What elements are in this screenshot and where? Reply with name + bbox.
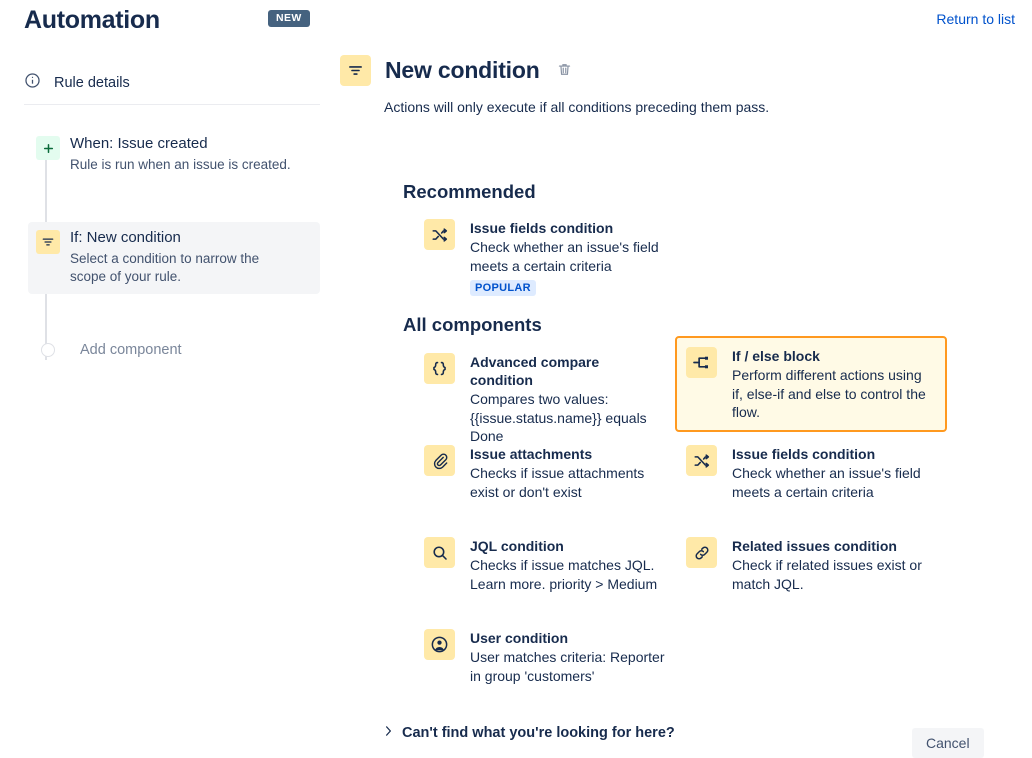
cancel-button[interactable]: Cancel <box>912 728 984 758</box>
component-card-text: Advanced compare condition Compares two … <box>470 352 666 446</box>
component-card-title: If / else block <box>732 347 935 365</box>
info-icon <box>24 72 41 94</box>
shuffle-icon <box>686 445 717 476</box>
component-card-text: Issue fields condition Check whether an … <box>732 444 928 501</box>
component-card-text: Issue fields condition Check whether an … <box>470 218 666 296</box>
component-card-desc: Check whether an issue's field meets a c… <box>732 464 928 501</box>
condition-title: New condition <box>385 57 540 84</box>
component-card-text: If / else block Perform different action… <box>732 346 935 422</box>
cant-find-expander[interactable]: Can't find what you're looking for here? <box>384 724 675 742</box>
rule-sidebar: Rule details When: Issue created Rule is… <box>0 46 330 758</box>
rule-step-desc: Select a condition to narrow the scope o… <box>70 250 298 286</box>
section-title-recommended: Recommended <box>403 181 536 203</box>
component-card-title: JQL condition <box>470 537 666 555</box>
rule-step-desc: Rule is run when an issue is created. <box>70 156 298 174</box>
rule-step-if-new-condition[interactable]: If: New condition Select a condition to … <box>28 222 320 294</box>
rule-step-title: If: New condition <box>70 228 298 248</box>
popular-badge: POPULAR <box>470 280 536 296</box>
branch-icon <box>686 347 717 378</box>
condition-picker-panel: New condition Actions will only execute … <box>337 46 1032 758</box>
component-card-desc: User matches criteria: Reporter in group… <box>470 648 666 685</box>
component-card-title: Advanced compare condition <box>470 353 666 389</box>
section-title-all-components: All components <box>403 314 542 336</box>
chevron-right-icon <box>384 724 393 742</box>
new-badge: NEW <box>268 10 310 27</box>
braces-icon <box>424 353 455 384</box>
add-component-button[interactable]: Add component <box>28 336 320 366</box>
top-bar: Automation NEW Return to list <box>0 0 1032 46</box>
trash-icon[interactable] <box>557 62 572 82</box>
add-component-circle-icon <box>41 343 55 357</box>
component-card-desc: Check whether an issue's field meets a c… <box>470 238 666 275</box>
sidebar-divider <box>24 104 320 105</box>
sidebar-item-label: Rule details <box>54 75 130 91</box>
component-card-if-else-block[interactable]: If / else block Perform different action… <box>675 336 947 432</box>
condition-subtitle: Actions will only execute if all conditi… <box>384 99 769 115</box>
component-card-title: Issue attachments <box>470 445 666 463</box>
component-card-desc: Checks if issue attachments exist or don… <box>470 464 666 501</box>
cant-find-expander-label: Can't find what you're looking for here? <box>402 725 675 741</box>
return-to-list-link[interactable]: Return to list <box>936 11 1015 27</box>
filter-icon <box>36 230 60 254</box>
component-card-text: JQL condition Checks if issue matches JQ… <box>470 536 666 593</box>
user-icon <box>424 629 455 660</box>
rule-step-when-issue-created[interactable]: When: Issue created Rule is run when an … <box>28 128 320 182</box>
link-icon <box>686 537 717 568</box>
search-icon <box>424 537 455 568</box>
add-component-label: Add component <box>80 342 182 358</box>
paperclip-icon <box>424 445 455 476</box>
component-card-title: Related issues condition <box>732 537 928 555</box>
component-card-text: User condition User matches criteria: Re… <box>470 628 666 685</box>
page-title: Automation <box>24 6 160 35</box>
component-card-title: Issue fields condition <box>732 445 928 463</box>
component-card-user-condition[interactable]: User condition User matches criteria: Re… <box>413 618 678 695</box>
component-card-text: Issue attachments Checks if issue attach… <box>470 444 666 501</box>
component-card-related-issues-condition[interactable]: Related issues condition Check if relate… <box>675 526 940 603</box>
component-card-text: Related issues condition Check if relate… <box>732 536 928 593</box>
rule-step-body: When: Issue created Rule is run when an … <box>70 134 298 174</box>
shuffle-icon <box>424 219 455 250</box>
sidebar-item-rule-details[interactable]: Rule details <box>24 66 314 100</box>
component-card-desc: Perform different actions using if, else… <box>732 366 935 422</box>
rule-step-title: When: Issue created <box>70 134 298 154</box>
component-card-desc: Check if related issues exist or match J… <box>732 556 928 593</box>
rule-step-body: If: New condition Select a condition to … <box>70 228 298 286</box>
plus-icon <box>36 136 60 160</box>
component-card-issue-attachments[interactable]: Issue attachments Checks if issue attach… <box>413 434 678 511</box>
component-card-issue-fields-condition[interactable]: Issue fields condition Check whether an … <box>675 434 940 511</box>
component-card-title: User condition <box>470 629 666 647</box>
filter-icon <box>340 55 371 86</box>
component-card-desc: Checks if issue matches JQL. Learn more.… <box>470 556 666 593</box>
automation-page: Automation NEW Return to list Rule detai… <box>0 0 1032 758</box>
component-card-jql-condition[interactable]: JQL condition Checks if issue matches JQ… <box>413 526 678 603</box>
component-card-title: Issue fields condition <box>470 219 666 237</box>
component-card-issue-fields-condition-recommended[interactable]: Issue fields condition Check whether an … <box>413 208 678 306</box>
condition-header: New condition <box>340 55 572 86</box>
